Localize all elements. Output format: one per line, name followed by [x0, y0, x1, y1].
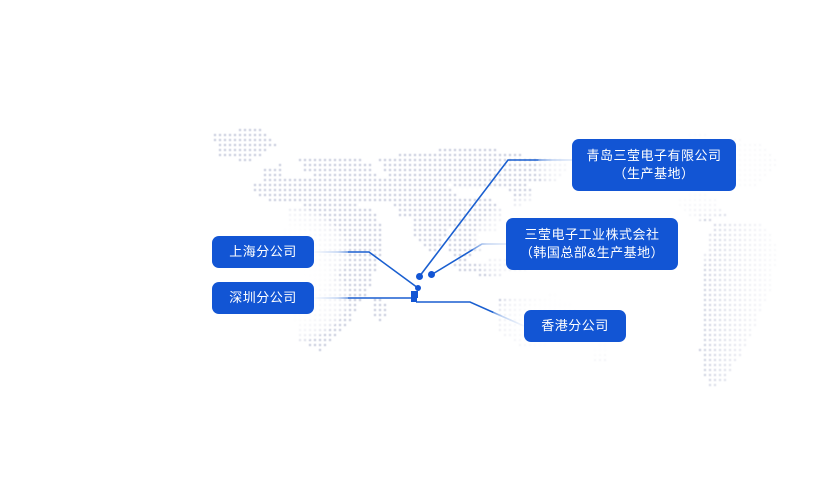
label-shenzhen-line1: 深圳分公司	[229, 289, 297, 307]
connector-lines	[0, 0, 824, 480]
label-qingdao-line1: 青岛三莹电子有限公司	[586, 147, 721, 165]
marker-qingdao[interactable]	[416, 273, 423, 280]
label-shanghai-line1: 上海分公司	[229, 243, 297, 261]
marker-korea[interactable]	[428, 271, 435, 278]
label-qingdao-line2: （生产基地）	[613, 165, 694, 183]
connector-shanghai	[314, 252, 418, 288]
label-hongkong[interactable]: 香港分公司	[524, 310, 626, 342]
label-qingdao[interactable]: 青岛三莹电子有限公司（生产基地）	[572, 139, 736, 191]
connector-hongkong	[416, 302, 524, 326]
connector-korea	[431, 244, 506, 275]
label-hongkong-line1: 香港分公司	[541, 317, 609, 335]
label-shenzhen[interactable]: 深圳分公司	[212, 282, 314, 314]
map-infographic: 青岛三莹电子有限公司（生产基地）三莹电子工业株式会社（韩国总部&生产基地）上海分…	[0, 0, 824, 480]
label-korea-hq-line1: 三莹电子工业株式会社	[524, 226, 659, 244]
label-shanghai[interactable]: 上海分公司	[212, 236, 314, 268]
marker-hongkong[interactable]	[411, 296, 417, 302]
label-korea-hq[interactable]: 三莹电子工业株式会社（韩国总部&生产基地）	[506, 218, 678, 270]
label-korea-hq-line2: （韩国总部&生产基地）	[520, 244, 664, 262]
